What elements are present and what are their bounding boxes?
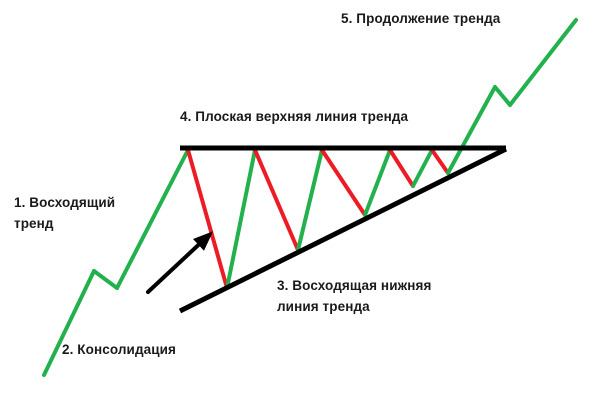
consolidation-down-leg-2 xyxy=(255,150,298,250)
annotation-consolidation: 2. Консолидация xyxy=(62,339,272,360)
consolidation-down-leg-5 xyxy=(432,150,448,173)
consolidation-down-leg-4 xyxy=(390,150,413,186)
consolidation-price-path xyxy=(188,150,448,288)
consolidation-up-leg-1 xyxy=(227,150,255,288)
annotation-upper-trendline: 4. Плоская верхняя линия тренда xyxy=(180,106,470,127)
uptrend-down-leg-1 xyxy=(94,271,117,288)
consolidation-up-leg-4 xyxy=(413,150,432,186)
annotation-trend-continuation: 5. Продолжение тренда xyxy=(341,8,591,29)
chart-diagram-canvas: 1. Восходящий тренд 2. Консолидация 3. В… xyxy=(0,0,600,414)
annotation-uptrend: 1. Восходящий тренд xyxy=(14,192,164,234)
consolidation-down-leg-3 xyxy=(322,150,365,215)
annotation-lower-trendline: 3. Восходящая нижняя линия тренда xyxy=(277,275,477,317)
consolidation-pointer-arrow xyxy=(148,231,213,292)
consolidation-down-leg-1 xyxy=(188,150,227,288)
consolidation-up-leg-2 xyxy=(298,150,322,250)
consolidation-up-leg-3 xyxy=(365,150,390,215)
breakout-pullback-leg xyxy=(495,87,510,105)
breakout-up-leg-2 xyxy=(510,20,576,105)
